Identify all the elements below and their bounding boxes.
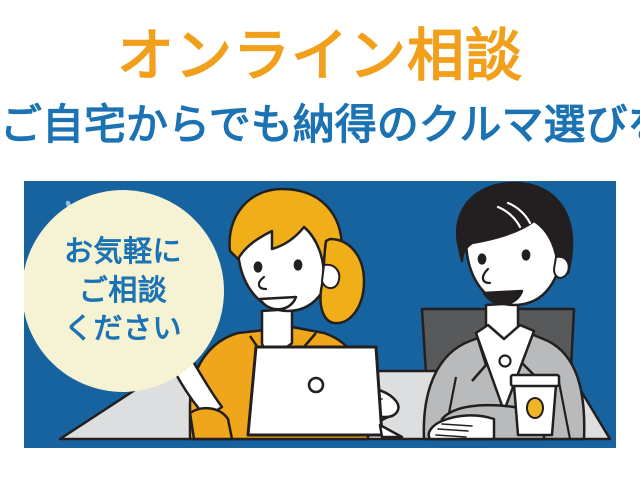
laptop-icon	[248, 347, 402, 437]
online-consultation-banner: オンライン相談 ご自宅からでも納得のクルマ選びを	[0, 0, 640, 480]
badge-text: お気軽に ご相談 ください	[24, 190, 224, 392]
illustration-panel: お気軽に ご相談 ください	[24, 181, 616, 448]
page-subtitle: ご自宅からでも納得のクルマ選びを	[0, 104, 640, 146]
coffee-cup-icon	[511, 375, 559, 435]
page-title: オンライン相談	[0, 28, 640, 85]
badge-line-2: ご相談	[79, 272, 168, 311]
badge-line-1: お気軽に	[64, 233, 182, 272]
badge-line-3: ください	[64, 310, 182, 349]
